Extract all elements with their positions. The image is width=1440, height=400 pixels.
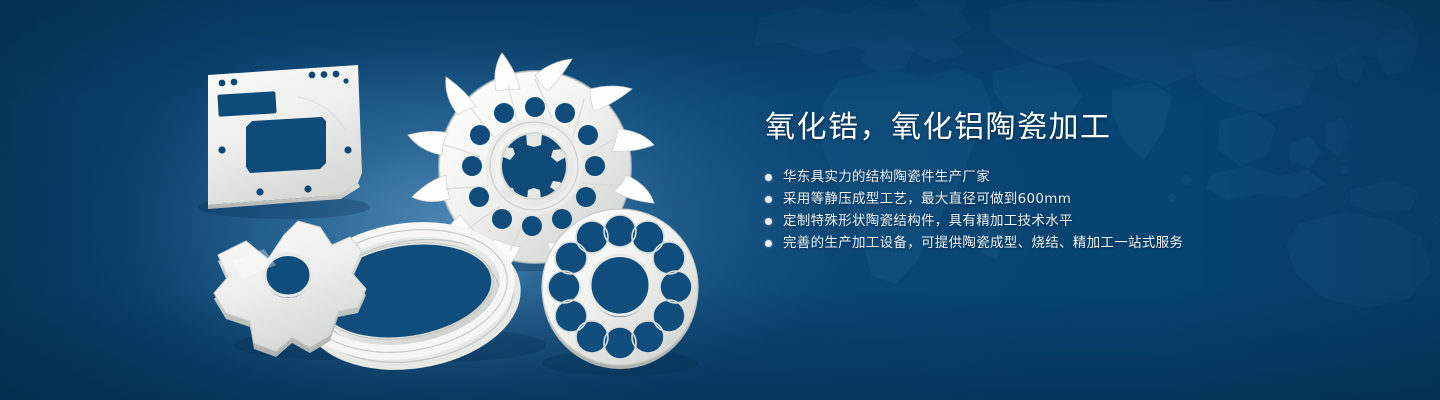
list-item: 完善的生产加工设备，可提供陶瓷成型、烧结、精加工一站式服务 bbox=[765, 236, 1385, 251]
list-item: 华东具实力的结构陶瓷件生产厂家 bbox=[765, 170, 1385, 185]
bullet-dot-icon bbox=[765, 218, 772, 225]
bullet-dot-icon bbox=[765, 240, 772, 247]
list-item: 定制特殊形状陶瓷结构件，具有精加工技术水平 bbox=[765, 214, 1385, 229]
list-item-label: 华东具实力的结构陶瓷件生产厂家 bbox=[783, 170, 990, 185]
bullet-dot-icon bbox=[765, 196, 772, 203]
ceramic-processing-banner: 氧化锆，氧化铝陶瓷加工 华东具实力的结构陶瓷件生产厂家 采用等静压成型工艺，最大… bbox=[0, 0, 1440, 400]
list-item-label: 完善的生产加工设备，可提供陶瓷成型、烧结、精加工一站式服务 bbox=[783, 236, 1183, 251]
ceramic-products-image bbox=[180, 45, 740, 385]
list-item: 采用等静压成型工艺，最大直径可做到600mm bbox=[765, 192, 1385, 207]
list-item-label: 采用等静压成型工艺，最大直径可做到600mm bbox=[783, 192, 1071, 207]
ceramic-perforated-disc-part bbox=[542, 209, 698, 369]
feature-list: 华东具实力的结构陶瓷件生产厂家 采用等静压成型工艺，最大直径可做到600mm 定… bbox=[765, 170, 1385, 251]
page-title: 氧化锆，氧化铝陶瓷加工 bbox=[765, 108, 1385, 148]
bullet-dot-icon bbox=[765, 174, 772, 181]
list-item-label: 定制特殊形状陶瓷结构件，具有精加工技术水平 bbox=[783, 214, 1073, 229]
banner-copy: 氧化锆，氧化铝陶瓷加工 华东具实力的结构陶瓷件生产厂家 采用等静压成型工艺，最大… bbox=[765, 108, 1385, 258]
